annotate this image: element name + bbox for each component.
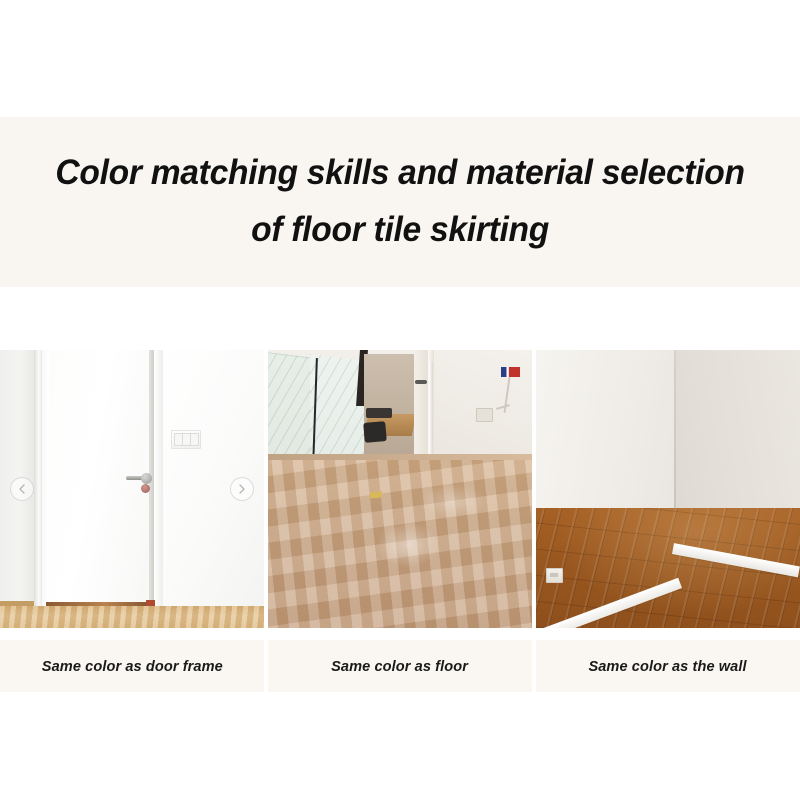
- construction-debris-3: [363, 421, 387, 443]
- wall-outlet-icon: [546, 568, 563, 583]
- light-switch-icon: [171, 430, 201, 449]
- door-keyhole-icon: [141, 484, 150, 493]
- caption-door-frame: Same color as door frame: [0, 640, 264, 692]
- construction-debris-2: [366, 408, 392, 418]
- wall-outlet-icon: [476, 408, 493, 422]
- image-gallery: [0, 350, 800, 628]
- caption-text: Same color as door frame: [41, 658, 222, 675]
- carousel-next-icon[interactable]: [230, 477, 254, 501]
- caption-text: Same color as the wall: [589, 658, 747, 675]
- floor-marker: [370, 491, 383, 498]
- caption-text: Same color as floor: [332, 658, 469, 675]
- door-handle-rose: [141, 473, 152, 484]
- caption-floor: Same color as floor: [268, 640, 532, 692]
- carousel-prev-icon[interactable]: [10, 477, 34, 501]
- page-title: Color matching skills and material selec…: [42, 145, 758, 258]
- door-jamb-outer: [34, 350, 42, 612]
- gallery-panel-floor[interactable]: [268, 350, 532, 628]
- caption-wall: Same color as the wall: [536, 640, 800, 692]
- header-band: Color matching skills and material selec…: [0, 117, 800, 287]
- floor-sheen: [376, 522, 440, 568]
- door-jamb-right: [154, 350, 163, 616]
- wall-sticker: [501, 367, 520, 377]
- gallery-panel-wall[interactable]: [536, 350, 800, 628]
- door-handle-icon: [415, 380, 427, 384]
- caption-row: Same color as door frame Same color as f…: [0, 640, 800, 692]
- white-door: [50, 350, 152, 613]
- support-pole: [429, 362, 433, 462]
- gallery-panel-door-frame[interactable]: [0, 350, 264, 628]
- wood-floor: [0, 606, 264, 628]
- page-root: Color matching skills and material selec…: [0, 0, 800, 800]
- floor-sheen-2: [418, 484, 488, 518]
- door-jamb-inner: [42, 350, 50, 614]
